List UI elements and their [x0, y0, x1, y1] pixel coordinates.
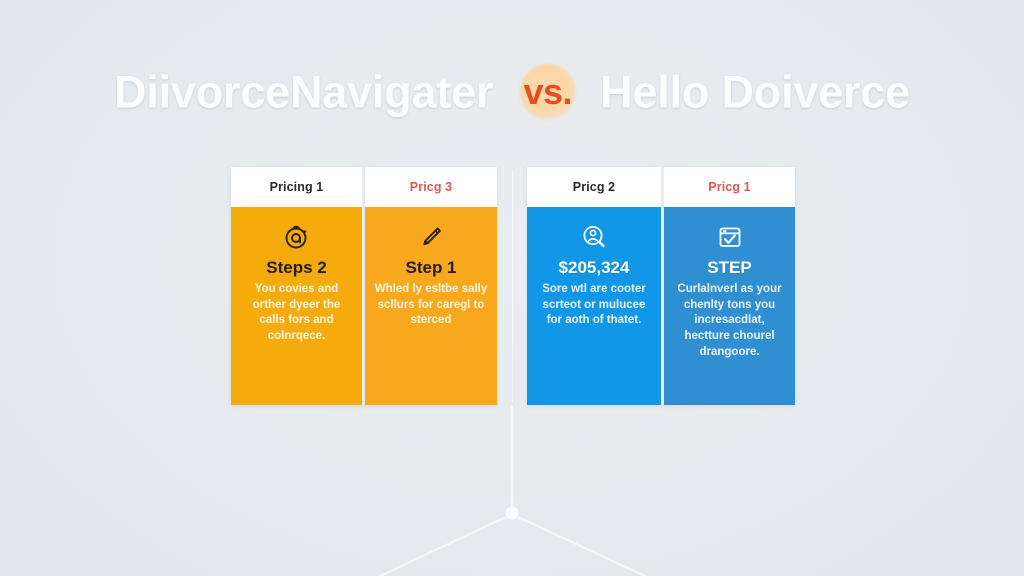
comparison-column-pricg-2[interactable]: Pricg 2 $205,324 Sore wtl are cooter scr…	[527, 167, 661, 405]
pencil-icon	[374, 221, 488, 253]
connector-node	[506, 507, 519, 520]
card-title: STEP	[673, 259, 786, 278]
card-body-text: Curlalnverl as your chenlty tons you inc…	[673, 282, 786, 361]
comparison-column-pricg-3[interactable]: Pricg 3 Step 1 Whled ly esltbe sally scl…	[365, 167, 497, 405]
calendar-check-icon	[673, 221, 786, 253]
card-body-text: Whled ly esltbe sally scllurs for caregl…	[374, 282, 488, 330]
column-header-pricing-1: Pricing 1	[231, 167, 362, 207]
card-body-text: Sore wtl are cooter scrteot or mulucee f…	[536, 282, 652, 330]
column-body-pricing-1: Steps 2 You covies and orther dyeer the …	[231, 207, 362, 405]
column-header-pricg-1: Pricg 1	[664, 167, 795, 207]
column-body-pricg-2: $205,324 Sore wtl are cooter scrteot or …	[527, 207, 661, 405]
card-title: Steps 2	[240, 259, 353, 278]
vs-badge: vs.	[512, 62, 584, 122]
page-title: DiivorceNavigater vs. Hello Doiverce	[0, 62, 1024, 122]
column-header-pricg-2: Pricg 2	[527, 167, 661, 207]
infographic-canvas: DiivorceNavigater vs. Hello Doiverce Pri…	[0, 0, 1024, 576]
comparison-table: Pricing 1 Steps 2 You covies and orther …	[231, 167, 795, 405]
card-body-text: You covies and orther dyeer the calls fo…	[240, 282, 353, 345]
card-title: $205,324	[536, 259, 652, 278]
column-body-pricg-1: STEP Curlalnverl as your chenlty tons yo…	[664, 207, 795, 405]
vs-label: vs.	[512, 62, 584, 122]
card-title: Step 1	[374, 259, 488, 278]
connector-branch-right	[518, 517, 645, 576]
comparison-column-pricing-1[interactable]: Pricing 1 Steps 2 You covies and orther …	[231, 167, 362, 405]
column-body-pricg-3: Step 1 Whled ly esltbe sally scllurs for…	[365, 207, 497, 405]
at-stopwatch-icon	[240, 221, 353, 253]
brand-right: Hello Doiverce	[600, 67, 910, 118]
comparison-side-left: Pricing 1 Steps 2 You covies and orther …	[231, 167, 497, 405]
connector-branch-left	[380, 517, 506, 576]
comparison-side-right: Pricg 2 $205,324 Sore wtl are cooter scr…	[527, 167, 795, 405]
comparison-column-pricg-1[interactable]: Pricg 1 STEP Curlalnverl as your chenlty…	[664, 167, 795, 405]
column-header-pricg-3: Pricg 3	[365, 167, 497, 207]
brand-left: DiivorceNavigater	[114, 67, 493, 118]
search-person-icon	[536, 221, 652, 253]
center-divider	[512, 170, 513, 403]
